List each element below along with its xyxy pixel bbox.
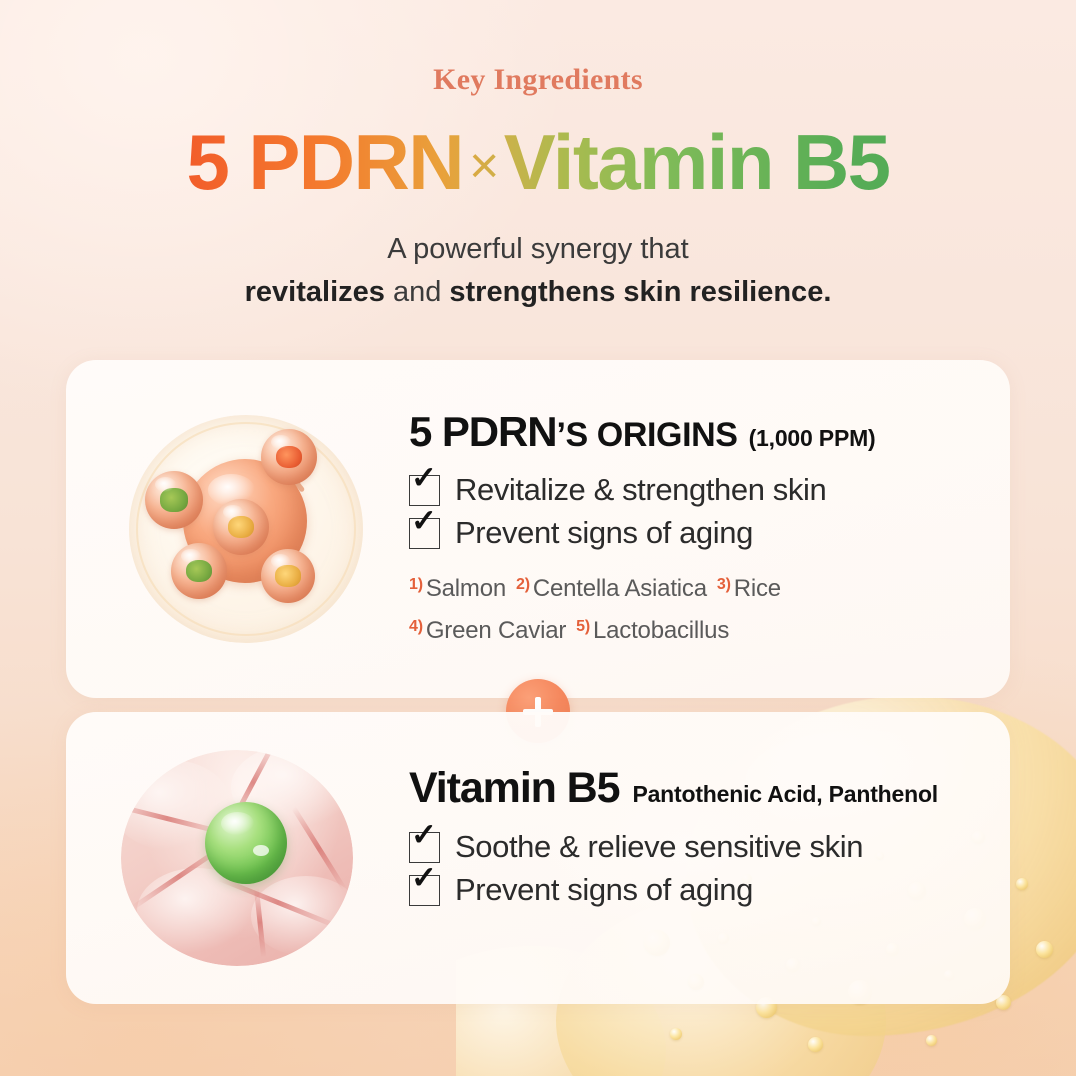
subtitle-bold-b: strengthens skin resilience.	[449, 276, 831, 308]
subtitle-conjunction: and	[385, 276, 450, 308]
subtitle: A powerful synergy that revitalizes and …	[0, 228, 1076, 313]
pdrn-heading-ppm: (1,000 PPM)	[749, 425, 876, 452]
benefit-label: Prevent signs of aging	[455, 872, 753, 908]
subtitle-line-2: revitalizes and strengthens skin resilie…	[0, 271, 1076, 314]
infographic-page: Key Ingredients 5 PDRN×Vitamin B5 A powe…	[0, 0, 1076, 1076]
source-item: 5)Lactobacillus	[576, 617, 729, 644]
source-marker: 2)	[516, 576, 530, 593]
pdrn-heading-origins: ’S ORIGINS	[556, 416, 737, 455]
source-item: 1)Salmon	[409, 575, 506, 602]
pdrn-source-list: 1)Salmon2)Centella Asiatica3)Rice 4)Gree…	[409, 568, 876, 652]
benefit-label: Soothe & relieve sensitive skin	[455, 829, 863, 865]
source-marker: 3)	[717, 576, 731, 593]
pdrn-molecule-image	[121, 415, 371, 643]
page-title: 5 PDRN×Vitamin B5	[0, 123, 1076, 201]
headline-left: 5 PDRN	[187, 118, 463, 206]
benefit-label: Revitalize & strengthen skin	[455, 472, 826, 508]
source-marker: 4)	[409, 618, 423, 635]
benefit-label: Prevent signs of aging	[455, 515, 753, 551]
benefit-item: ✓ Revitalize & strengthen skin	[409, 472, 876, 508]
benefit-item: ✓ Prevent signs of aging	[409, 515, 876, 551]
benefit-item: ✓ Prevent signs of aging	[409, 872, 938, 908]
b5-benefit-list: ✓ Soothe & relieve sensitive skin ✓ Prev…	[409, 829, 938, 908]
b5-heading: Vitamin B5 Pantothenic Acid, Panthenol	[409, 764, 938, 813]
source-marker: 5)	[576, 618, 590, 635]
checkbox-checked-icon: ✓	[409, 832, 440, 863]
checkbox-checked-icon: ✓	[409, 875, 440, 906]
source-name: Centella Asiatica	[533, 575, 707, 602]
source-item: 3)Rice	[717, 575, 781, 602]
satellite-bubble-2	[261, 429, 317, 485]
subtitle-bold-a: revitalizes	[245, 276, 385, 308]
b5-heading-main: Vitamin B5	[409, 764, 619, 813]
satellite-bubble-3	[213, 499, 269, 555]
source-line-1: 1)Salmon2)Centella Asiatica3)Rice	[409, 568, 876, 610]
source-item: 2)Centella Asiatica	[516, 575, 707, 602]
ingredient-card-vitamin-b5: Vitamin B5 Pantothenic Acid, Panthenol ✓…	[66, 712, 1010, 1004]
pdrn-benefit-list: ✓ Revitalize & strengthen skin ✓ Prevent…	[409, 472, 876, 551]
checkbox-checked-icon: ✓	[409, 475, 440, 506]
skin-cells-texture	[121, 750, 353, 966]
source-name: Salmon	[426, 575, 506, 602]
subtitle-line-1: A powerful synergy that	[0, 228, 1076, 271]
ingredient-card-pdrn: 5 PDRN ’S ORIGINS (1,000 PPM) ✓ Revitali…	[66, 360, 1010, 698]
source-name: Green Caviar	[426, 617, 566, 644]
benefit-item: ✓ Soothe & relieve sensitive skin	[409, 829, 938, 865]
source-name: Rice	[734, 575, 781, 602]
source-line-2: 4)Green Caviar5)Lactobacillus	[409, 610, 876, 652]
satellite-bubble-4	[171, 543, 227, 599]
source-name: Lactobacillus	[593, 617, 729, 644]
vitamin-b5-skin-image	[121, 750, 353, 966]
satellite-bubble-1	[145, 471, 203, 529]
pdrn-heading: 5 PDRN ’S ORIGINS (1,000 PPM)	[409, 408, 876, 456]
headline-times-symbol: ×	[463, 137, 504, 195]
pdrn-heading-main: 5 PDRN	[409, 408, 556, 456]
green-sphere-shape	[205, 802, 287, 884]
eyebrow-title: Key Ingredients	[0, 63, 1076, 97]
satellite-bubble-5	[261, 549, 315, 603]
source-marker: 1)	[409, 576, 423, 593]
headline-right: Vitamin B5	[504, 118, 890, 206]
b5-heading-note: Pantothenic Acid, Panthenol	[632, 781, 938, 808]
checkbox-checked-icon: ✓	[409, 518, 440, 549]
source-item: 4)Green Caviar	[409, 617, 566, 644]
